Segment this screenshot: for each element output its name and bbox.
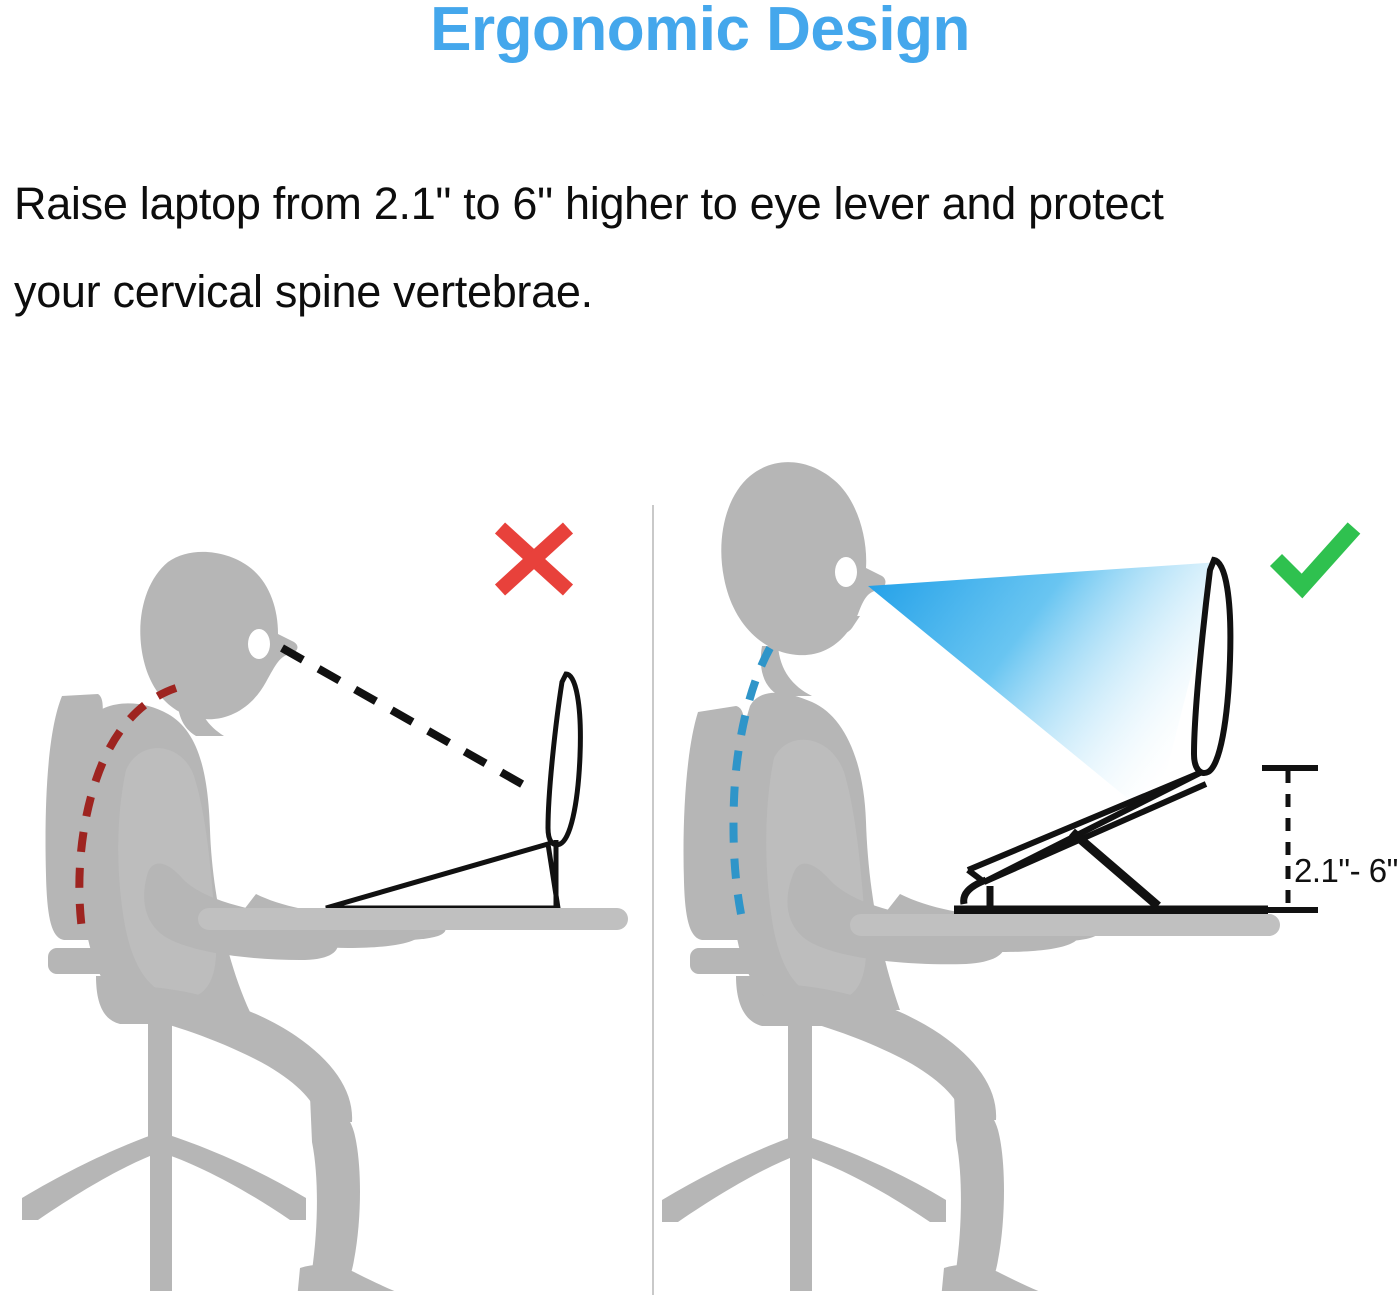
description-line-2: your cervical spine vertebrae. bbox=[14, 248, 1374, 336]
page-title: Ergonomic Design bbox=[0, 0, 1400, 65]
bad-sight-line bbox=[282, 648, 536, 792]
desk-bar-bad bbox=[198, 908, 628, 930]
laptop-flat bbox=[326, 674, 580, 908]
height-dimension-label: 2.1"- 6" bbox=[1294, 852, 1398, 890]
vision-cone bbox=[868, 562, 1220, 820]
green-check-icon bbox=[1266, 520, 1366, 600]
red-x-icon bbox=[490, 520, 580, 600]
good-posture-panel: 2.1"- 6" bbox=[654, 420, 1400, 1291]
comparison-illustrations: 2.1"- 6" bbox=[0, 420, 1400, 1291]
description-line-1: Raise laptop from 2.1" to 6" higher to e… bbox=[14, 160, 1374, 248]
page-description: Raise laptop from 2.1" to 6" higher to e… bbox=[14, 160, 1374, 336]
ergonomic-design-infographic: Ergonomic Design Raise laptop from 2.1" … bbox=[0, 0, 1400, 1291]
desk-bar-good bbox=[850, 914, 1280, 936]
bad-posture-panel bbox=[0, 420, 652, 1291]
